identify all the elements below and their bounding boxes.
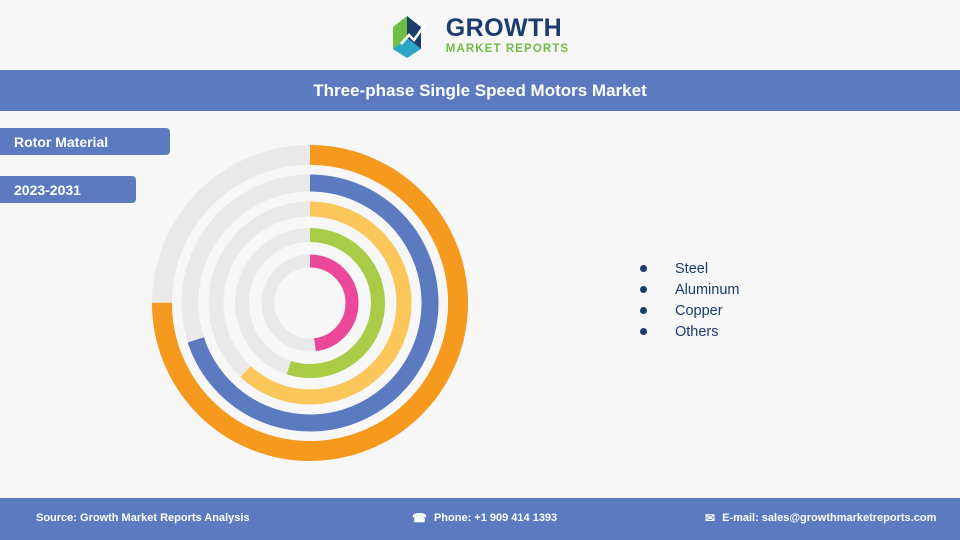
legend-bullet-icon xyxy=(640,307,647,314)
legend-item: Steel xyxy=(640,258,900,279)
title-bar: Three-phase Single Speed Motors Market xyxy=(0,70,960,111)
envelope-icon: ✉ xyxy=(705,512,715,524)
years-badge-label: 2023-2031 xyxy=(14,182,81,198)
phone-icon: ☎ xyxy=(412,512,427,524)
brand-wordmark: GROWTH MARKET REPORTS xyxy=(446,16,569,56)
footer-email: ✉ E-mail: sales@growthmarketreports.com xyxy=(705,512,936,524)
legend-item: Aluminum xyxy=(640,279,900,300)
legend-bullet-icon xyxy=(640,328,647,335)
segment-badge-label: Rotor Material xyxy=(14,134,108,150)
legend-bullet-icon xyxy=(640,265,647,272)
brand-name-top: GROWTH xyxy=(446,16,569,41)
brand-logo: GROWTH MARKET REPORTS xyxy=(0,8,960,64)
legend-label-copper: Copper xyxy=(675,303,723,319)
footer-source: Source: Growth Market Reports Analysis xyxy=(36,512,250,524)
chart-legend: Steel Aluminum Copper Others xyxy=(640,258,900,342)
legend-label-aluminum: Aluminum xyxy=(675,282,739,298)
radial-chart xyxy=(120,128,540,478)
brand-name-bottom: MARKET REPORTS xyxy=(446,44,569,56)
footer-phone: ☎ Phone: +1 909 414 1393 xyxy=(412,512,557,524)
legend-label-steel: Steel xyxy=(675,261,708,277)
legend-label-others: Others xyxy=(675,324,719,340)
legend-item: Copper xyxy=(640,300,900,321)
legend-bullet-icon xyxy=(640,286,647,293)
footer-phone-text: Phone: +1 909 414 1393 xyxy=(434,512,557,524)
growth-arrow-icon xyxy=(391,14,437,58)
page-title: Three-phase Single Speed Motors Market xyxy=(313,81,646,101)
footer-bar: Source: Growth Market Reports Analysis ☎… xyxy=(0,498,960,540)
years-badge: 2023-2031 xyxy=(0,176,136,203)
poster-canvas: GROWTH MARKET REPORTS Three-phase Single… xyxy=(0,0,960,540)
footer-email-text: E-mail: sales@growthmarketreports.com xyxy=(722,512,936,524)
legend-item: Others xyxy=(640,321,900,342)
